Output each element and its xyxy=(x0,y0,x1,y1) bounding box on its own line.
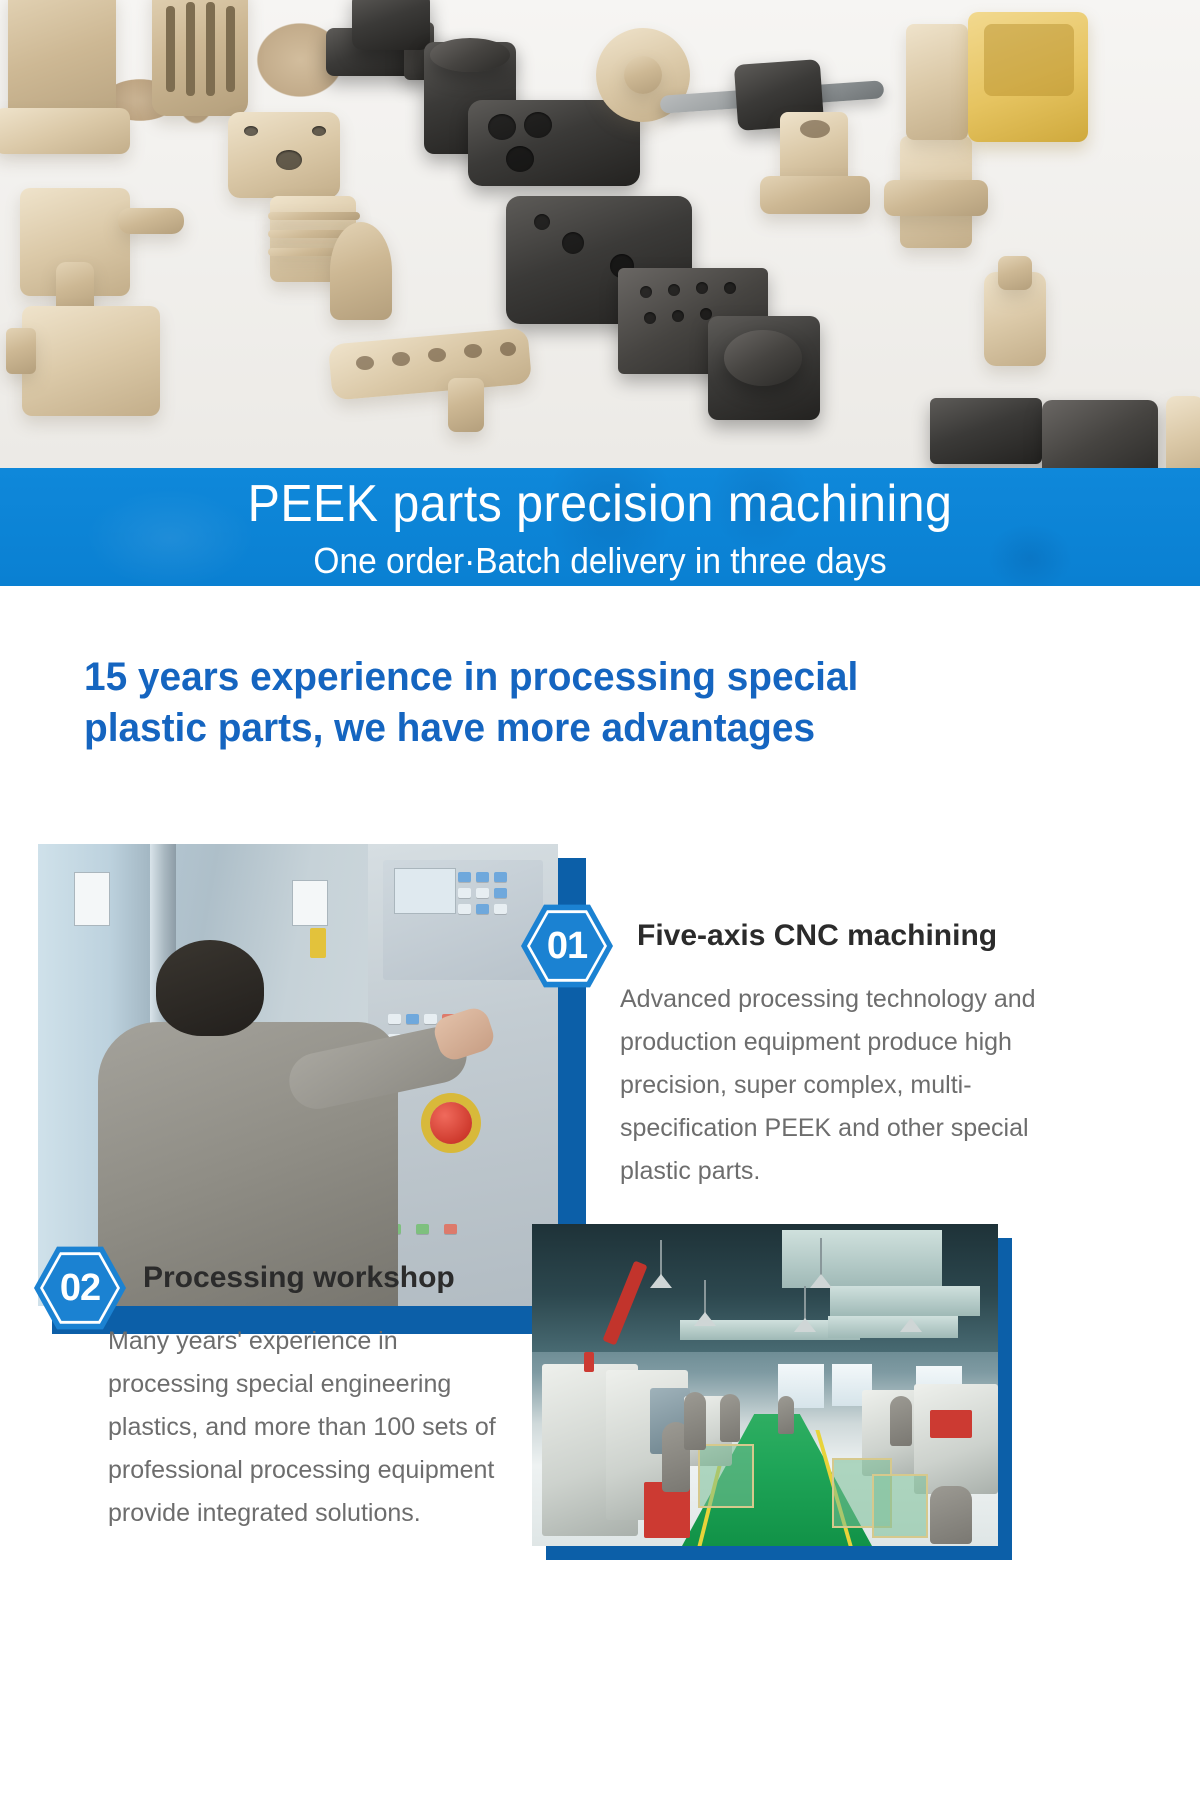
hero-part-hole xyxy=(640,286,652,298)
feature-2-number: 02 xyxy=(60,1269,100,1307)
hero-part-hole xyxy=(672,310,684,322)
cnc-key xyxy=(444,1224,457,1234)
hero-part-hole xyxy=(644,312,656,324)
hero-part-hole xyxy=(500,342,516,356)
workshop-lamp-stem xyxy=(820,1238,822,1276)
hero-part-hole xyxy=(724,282,736,294)
hero-part-sleeve-bore xyxy=(430,38,510,72)
cnc-key xyxy=(416,1224,429,1234)
hero-part-cage-slot xyxy=(206,2,215,96)
hero-part-bracket xyxy=(22,306,160,416)
cnc-key xyxy=(494,888,507,898)
cnc-key xyxy=(388,1014,401,1024)
cnc-key xyxy=(476,888,489,898)
workshop-worker xyxy=(720,1394,740,1442)
hero-part-elbow-barb xyxy=(118,208,184,234)
hero-part-port xyxy=(524,112,552,138)
hero-part-pill-top xyxy=(998,256,1032,290)
hero-part-hole xyxy=(276,150,302,170)
feature-1-badge: 01 xyxy=(521,902,613,990)
workshop-lamp-stem xyxy=(804,1286,806,1320)
hero-part-manifold xyxy=(468,100,640,186)
cnc-warning-label xyxy=(74,872,110,926)
promo-banner: PEEK parts precision machining One order… xyxy=(0,468,1200,586)
workshop-cart xyxy=(872,1474,928,1538)
workshop-worker xyxy=(930,1486,972,1544)
workshop-worker xyxy=(684,1392,706,1450)
hero-part-ring-bore xyxy=(724,330,802,386)
hero-part-hole xyxy=(428,348,446,362)
hero-part-rib xyxy=(268,212,360,220)
hero-part-hole xyxy=(464,344,482,358)
hero-part-cage-slot xyxy=(166,6,175,92)
workshop-lamp-stem xyxy=(704,1280,706,1314)
cnc-key xyxy=(458,872,471,882)
hero-part-hole xyxy=(312,126,326,136)
hero-part-hole xyxy=(356,356,374,370)
hero-part-tube xyxy=(1042,400,1158,470)
cnc-key xyxy=(476,872,489,882)
hero-part-hole xyxy=(392,352,410,366)
hero-part-hole xyxy=(696,282,708,294)
section-heading-line-2: plastic parts, we have more advantages xyxy=(84,703,1015,754)
emergency-stop-button xyxy=(430,1102,472,1144)
worker-head xyxy=(156,940,264,1036)
hero-part-bush-flange xyxy=(760,176,870,214)
hero-part-spool-disc xyxy=(0,108,130,154)
feature-1-title: Five-axis CNC machining xyxy=(637,919,997,953)
cnc-key xyxy=(494,904,507,914)
cnc-hazard-sticker xyxy=(310,928,326,958)
workshop-machine-panel-red xyxy=(930,1410,972,1438)
workshop-signal-light xyxy=(584,1352,594,1372)
workshop-duct xyxy=(830,1286,980,1316)
feature-2-photo-frame xyxy=(532,1224,1012,1560)
hero-part-valve-body xyxy=(352,0,430,50)
section-heading: 15 years experience in processing specia… xyxy=(84,652,1015,754)
hero-part-amber-bore xyxy=(984,24,1074,96)
hero-part-cage-slot xyxy=(186,2,195,96)
hero-part-gear-hub xyxy=(624,56,662,94)
workshop-duct xyxy=(828,1316,958,1338)
hero-part-port xyxy=(506,146,534,172)
feature-1-body: Advanced processing technology and produ… xyxy=(620,978,1040,1193)
cnc-key xyxy=(458,888,471,898)
feature-1-number: 01 xyxy=(547,927,587,965)
hero-part-hole xyxy=(244,126,258,136)
hero-part-stepped-bush-top xyxy=(906,24,968,140)
hero-part-cone xyxy=(330,222,392,320)
feature-2-title: Processing workshop xyxy=(143,1261,455,1295)
cnc-key xyxy=(494,872,507,882)
workshop-cart xyxy=(698,1444,754,1508)
cnc-key xyxy=(406,1014,419,1024)
banner-title: PEEK parts precision machining xyxy=(42,474,1158,534)
workshop-duct xyxy=(782,1230,942,1288)
workshop-lamp-stem xyxy=(660,1240,662,1276)
cnc-key xyxy=(424,1014,437,1024)
hero-image xyxy=(0,0,1200,470)
feature-2-badge: 02 xyxy=(34,1244,126,1332)
hero-part-rod xyxy=(1166,396,1200,470)
hero-part-stepped-bush-flange xyxy=(884,180,988,216)
cnc-key xyxy=(476,904,489,914)
workshop-worker xyxy=(890,1396,912,1446)
hero-part-hole xyxy=(800,120,830,138)
cnc-warning-label xyxy=(292,880,328,926)
banner-subtitle: One order·Batch delivery in three days xyxy=(42,540,1158,582)
feature-1-photo-cnc-operator xyxy=(38,844,558,1306)
hero-part-hole xyxy=(534,214,550,230)
hero-part-arm-boss xyxy=(448,378,484,432)
hero-part-hole xyxy=(562,232,584,254)
feature-2-photo-workshop xyxy=(532,1224,998,1546)
section-heading-line-1: 15 years experience in processing specia… xyxy=(84,652,1015,703)
feature-2-body: Many years' experience in processing spe… xyxy=(108,1320,508,1535)
hero-part-bracket-tab xyxy=(6,328,36,374)
hero-part-hole xyxy=(668,284,680,296)
cnc-key xyxy=(458,904,471,914)
hero-part-cage-slot xyxy=(226,6,235,92)
hero-part-wedge xyxy=(930,398,1042,464)
workshop-worker xyxy=(778,1396,794,1434)
cnc-screen xyxy=(394,868,456,914)
hero-part-port xyxy=(488,114,516,140)
